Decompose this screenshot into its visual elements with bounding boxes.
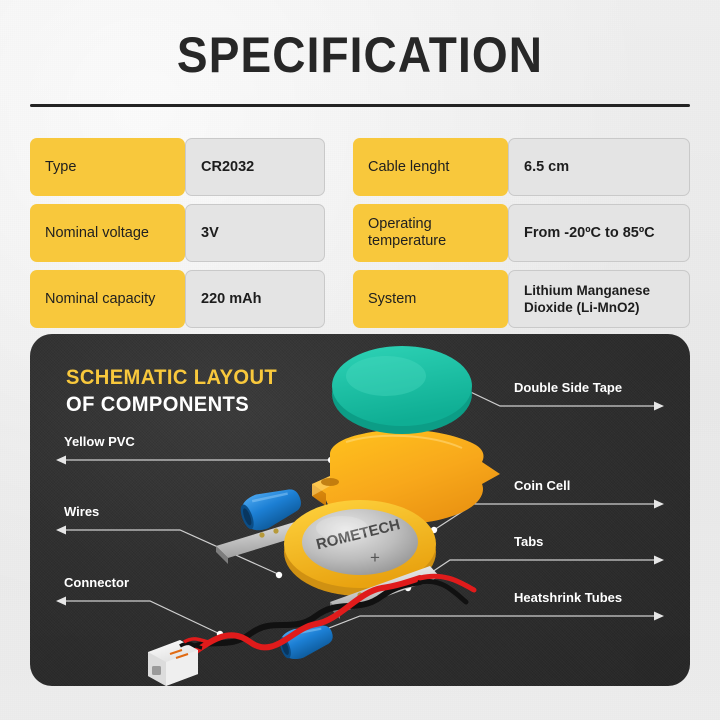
- spec-label-nominal-voltage: Nominal voltage: [30, 204, 185, 262]
- spec-label-system: System: [353, 270, 508, 328]
- connector-art: [148, 639, 208, 686]
- title-divider: [30, 104, 690, 107]
- spec-label-type: Type: [30, 138, 185, 196]
- heatshrink-tube-lower-art: [276, 618, 336, 663]
- coin-cell-art: ROMETECH +: [284, 500, 436, 596]
- tab-upper-art: [216, 502, 372, 564]
- spec-value-operating-temperature: From -20ºC to 85ºC: [508, 204, 690, 262]
- battery-polarity-text: +: [370, 548, 380, 567]
- schematic-heading-line1: SCHEMATIC LAYOUT: [66, 364, 277, 391]
- callout-heatshrink-tubes: Heatshrink Tubes: [514, 590, 622, 605]
- spec-label-cable-length: Cable lenght: [353, 138, 508, 196]
- callout-yellow-pvc: Yellow PVC: [64, 434, 135, 449]
- schematic-heading-line2: OF COMPONENTS: [66, 391, 277, 418]
- schematic-heading: SCHEMATIC LAYOUT OF COMPONENTS: [66, 364, 277, 418]
- tab-lower-art: [330, 566, 440, 619]
- spec-label-operating-temperature: Operating temperature: [353, 204, 508, 262]
- callout-tabs: Tabs: [514, 534, 543, 549]
- heatshrink-tube-upper-art: [236, 481, 306, 536]
- spec-value-nominal-voltage: 3V: [185, 204, 325, 262]
- specification-table: Type CR2032 Cable lenght 6.5 cm Nominal …: [30, 138, 690, 328]
- grid-spacer: [325, 204, 353, 262]
- spec-value-nominal-capacity: 220 mAh: [185, 270, 325, 328]
- twisted-wires-art: [182, 576, 474, 660]
- callout-double-side-tape: Double Side Tape: [514, 380, 622, 395]
- spec-value-system: Lithium Manganese Dioxide (Li-MnO2): [508, 270, 690, 328]
- callout-coin-cell: Coin Cell: [514, 478, 570, 493]
- yellow-pvc-art: [312, 430, 500, 525]
- specification-infographic: SPECIFICATION Type CR2032 Cable lenght 6…: [0, 0, 720, 720]
- page-title: SPECIFICATION: [29, 26, 691, 84]
- schematic-panel: SCHEMATIC LAYOUT OF COMPONENTS: [30, 334, 690, 686]
- grid-spacer: [325, 138, 353, 196]
- spec-value-cable-length: 6.5 cm: [508, 138, 690, 196]
- double-side-tape-art: [332, 346, 472, 434]
- callout-connector: Connector: [64, 575, 129, 590]
- grid-spacer: [325, 270, 353, 328]
- callout-wires: Wires: [64, 504, 99, 519]
- spec-label-nominal-capacity: Nominal capacity: [30, 270, 185, 328]
- battery-brand-text: ROMETECH: [314, 516, 401, 553]
- spec-value-type: CR2032: [185, 138, 325, 196]
